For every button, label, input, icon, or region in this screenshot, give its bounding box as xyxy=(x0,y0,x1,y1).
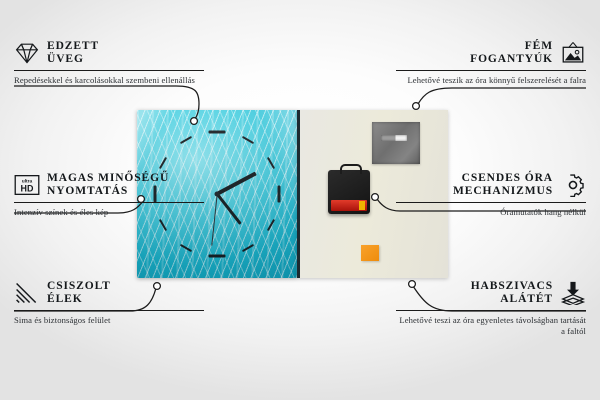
clock-tick xyxy=(180,244,192,252)
callout-csendes-ora-mechanizmus[interactable]: CSENDES ÓRA MECHANIZMUS Óramutatók hang … xyxy=(396,172,586,218)
clock-tick xyxy=(159,157,167,169)
callout-description: Óramutatók hang nélkül xyxy=(396,207,586,218)
ultra-hd-icon: ultra HD xyxy=(14,173,40,197)
callout-header: ultra HD MAGAS MINŐSÉGŰ NYOMTATÁS xyxy=(14,172,204,198)
gear-icon xyxy=(560,173,586,197)
callout-header: EDZETT ÜVEG xyxy=(14,40,204,66)
svg-text:HD: HD xyxy=(21,183,34,193)
callout-habszivacs-alatet[interactable]: HABSZIVACS ALÁTÉT Lehetővé teszi az óra … xyxy=(396,280,586,337)
clock-tick xyxy=(267,157,275,169)
clock-tick xyxy=(180,136,192,144)
clock-tick xyxy=(278,186,281,203)
connector-endpoint-fogantyuk xyxy=(413,103,420,110)
callout-header: CSENDES ÓRA MECHANIZMUS xyxy=(396,172,586,198)
callout-description: Lehetővé teszik az óra könnyű felszerelé… xyxy=(396,75,586,86)
callout-title: MAGAS MINŐSÉGŰ NYOMTATÁS xyxy=(47,172,169,198)
clock-tick xyxy=(242,244,254,252)
callout-title: HABSZIVACS ALÁTÉT xyxy=(471,280,553,306)
polished-edges-icon xyxy=(14,281,40,305)
wall-hanging-icon xyxy=(560,41,586,65)
hour-hand xyxy=(216,172,257,196)
minute-hand xyxy=(216,193,242,225)
callout-title: CSISZOLT ÉLEK xyxy=(47,280,111,306)
callout-description: Sima és biztonságos felület xyxy=(14,315,204,326)
callout-description: Lehetővé teszi az óra egyenletes távolsá… xyxy=(396,315,586,338)
callout-title: EDZETT ÜVEG xyxy=(47,40,99,66)
callout-header: HABSZIVACS ALÁTÉT xyxy=(396,280,586,306)
clock-tick xyxy=(159,219,167,231)
callout-title: CSENDES ÓRA MECHANIZMUS xyxy=(453,172,553,198)
divider xyxy=(14,202,204,203)
infographic-canvas: EDZETT ÜVEG Repedésekkel és karcolásokka… xyxy=(0,0,600,400)
divider xyxy=(396,70,586,71)
callout-csiszolt-elek[interactable]: CSISZOLT ÉLEK Sima és biztonságos felüle… xyxy=(14,280,204,326)
metal-hanger-part xyxy=(372,122,420,164)
divider xyxy=(396,310,586,311)
clock-tick xyxy=(242,136,254,144)
clock-tick xyxy=(209,131,226,134)
diamond-icon xyxy=(14,41,40,65)
callout-fem-fogantyuk[interactable]: FÉM FOGANTYÚK Lehetővé teszik az óra kön… xyxy=(396,40,586,86)
second-hand xyxy=(211,194,218,246)
callout-magas-minosegu-nyomtatas[interactable]: ultra HD MAGAS MINŐSÉGŰ NYOMTATÁS Intenz… xyxy=(14,172,204,218)
callout-edzett-uveg[interactable]: EDZETT ÜVEG Repedésekkel és karcolásokka… xyxy=(14,40,204,86)
clock-tick xyxy=(209,255,226,258)
callout-header: CSISZOLT ÉLEK xyxy=(14,280,204,306)
clock-center-cap xyxy=(215,192,220,197)
callout-title: FÉM FOGANTYÚK xyxy=(470,40,553,66)
divider xyxy=(14,70,204,71)
callout-header: FÉM FOGANTYÚK xyxy=(396,40,586,66)
foam-pad-part xyxy=(361,245,379,261)
battery-part xyxy=(331,200,367,211)
divider xyxy=(14,310,204,311)
divider xyxy=(396,202,586,203)
clock-mechanism-part xyxy=(328,170,370,214)
callout-description: Intenzív színek és éles kép xyxy=(14,207,204,218)
clock-tick xyxy=(267,219,275,231)
foam-pad-icon xyxy=(560,281,586,305)
callout-description: Repedésekkel és karcolásokkal szembeni e… xyxy=(14,75,204,86)
